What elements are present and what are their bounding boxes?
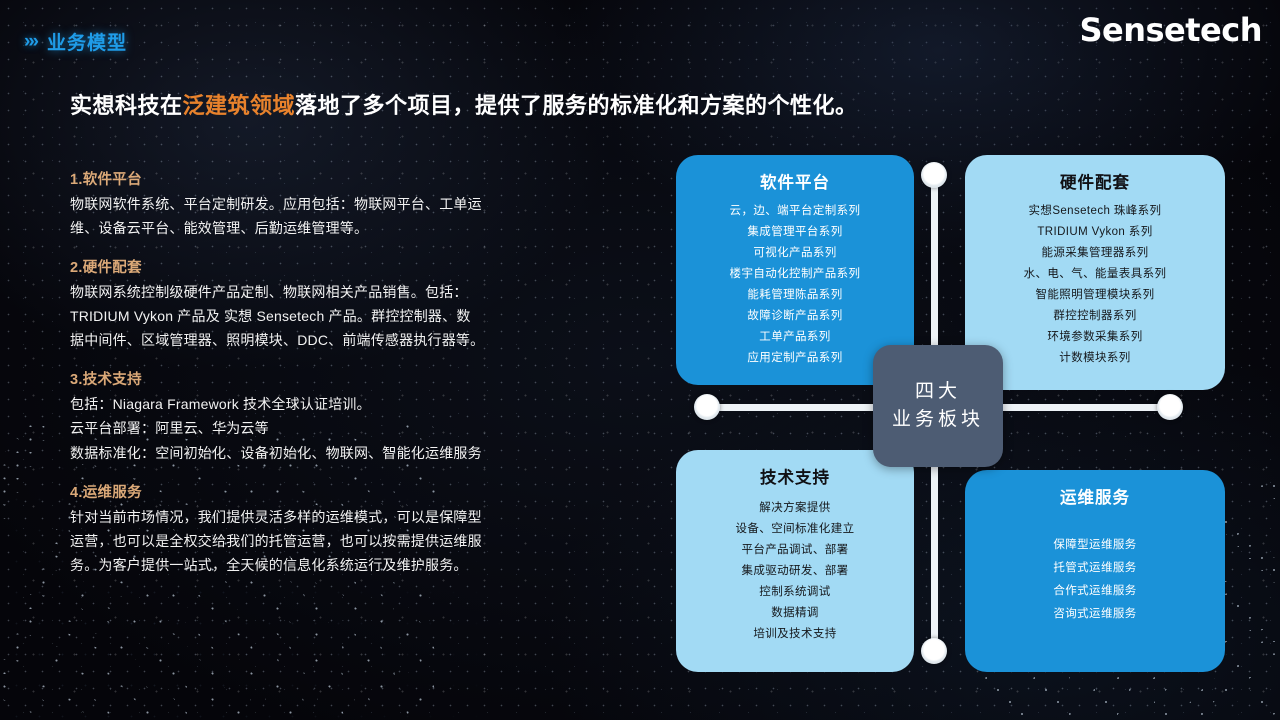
section-body: 针对当前市场情况，我们提供灵活多样的运维模式，可以是保障型 运营，也可以是全权交… [70, 505, 630, 577]
list-item: 设备、空间标准化建立 [676, 519, 914, 540]
list-item: 数据精调 [676, 603, 914, 624]
body-line: 物联网软件系统、平台定制研发。应用包括：物联网平台、工单运 [70, 192, 630, 216]
brand-logo: Sensetech [1079, 11, 1262, 49]
card-title: 硬件配套 [965, 169, 1225, 193]
list-item: 集成驱动研发、部署 [676, 561, 914, 582]
headline-before: 实想科技在 [70, 93, 183, 118]
card-operations-service[interactable]: 运维服务 保障型运维服务 托管式运维服务 合作式运维服务 咨询式运维服务 [965, 470, 1225, 672]
hub-line-1: 四大 [915, 378, 961, 406]
hub-line-2: 业务板块 [892, 406, 984, 434]
connector-node-right [1157, 394, 1183, 420]
card-item-list: 云，边、端平台定制系列 集成管理平台系列 可视化产品系列 楼宇自动化控制产品系列… [676, 201, 914, 369]
list-item: 能源采集管理器系列 [965, 243, 1225, 264]
body-line: 运营，也可以是全权交给我们的托管运营，也可以按需提供运维服 [70, 529, 630, 553]
list-item: 楼宇自动化控制产品系列 [676, 264, 914, 285]
connector-node-left [694, 394, 720, 420]
body-line: 针对当前市场情况，我们提供灵活多样的运维模式，可以是保障型 [70, 505, 630, 529]
body-line: 维、设备云平台、能效管理、后勤运维管理等。 [70, 216, 630, 240]
body-line: 据中间件、区域管理器、照明模块、DDC、前端传感器执行器等。 [70, 328, 630, 352]
section-body: 包括：Niagara Framework 技术全球认证培训。 云平台部署：阿里云… [70, 392, 630, 464]
list-item: 智能照明管理模块系列 [965, 285, 1225, 306]
list-item: 计数模块系列 [965, 348, 1225, 369]
triple-chevron-right-icon: ››› [24, 31, 37, 53]
list-item: 平台产品调试、部署 [676, 540, 914, 561]
slide-root: ››› 业务模型 Sensetech 实想科技在泛建筑领域落地了多个项目，提供了… [0, 0, 1280, 720]
breadcrumb: ››› 业务模型 [24, 28, 127, 55]
connector-node-bottom [921, 638, 947, 664]
body-line: 物联网系统控制级硬件产品定制、物联网相关产品销售。包括： [70, 280, 630, 304]
connector-node-top [921, 162, 947, 188]
list-item: 保障型运维服务 [965, 534, 1225, 557]
list-item: 环境参数采集系列 [965, 327, 1225, 348]
list-item: 咨询式运维服务 [965, 603, 1225, 626]
card-technical-support[interactable]: 技术支持 解决方案提供 设备、空间标准化建立 平台产品调试、部署 集成驱动研发、… [676, 450, 914, 672]
section-body: 物联网软件系统、平台定制研发。应用包括：物联网平台、工单运 维、设备云平台、能效… [70, 192, 630, 240]
section-hardware-kit: 2.硬件配套 物联网系统控制级硬件产品定制、物联网相关产品销售。包括： TRID… [70, 256, 630, 352]
section-heading: 2.硬件配套 [70, 256, 630, 277]
card-item-list: 实想Sensetech 珠峰系列 TRIDIUM Vykon 系列 能源采集管理… [965, 201, 1225, 369]
section-software-platform: 1.软件平台 物联网软件系统、平台定制研发。应用包括：物联网平台、工单运 维、设… [70, 168, 630, 240]
section-heading: 1.软件平台 [70, 168, 630, 189]
body-line: TRIDIUM Vykon 产品及 实想 Sensetech 产品。群控控制器、… [70, 304, 630, 328]
card-hardware-kit[interactable]: 硬件配套 实想Sensetech 珠峰系列 TRIDIUM Vykon 系列 能… [965, 155, 1225, 390]
list-item: 群控控制器系列 [965, 306, 1225, 327]
card-title: 软件平台 [676, 169, 914, 193]
list-item: 培训及技术支持 [676, 624, 914, 645]
section-heading: 4.运维服务 [70, 481, 630, 502]
body-line: 务。为客户提供一站式，全天候的信息化系统运行及维护服务。 [70, 553, 630, 577]
list-item: 工单产品系列 [676, 327, 914, 348]
section-label: 业务模型 [47, 28, 127, 55]
list-item: 集成管理平台系列 [676, 222, 914, 243]
left-content-column: 1.软件平台 物联网软件系统、平台定制研发。应用包括：物联网平台、工单运 维、设… [70, 168, 630, 593]
section-heading: 3.技术支持 [70, 368, 630, 389]
list-item: 解决方案提供 [676, 498, 914, 519]
list-item: 故障诊断产品系列 [676, 306, 914, 327]
list-item: 合作式运维服务 [965, 580, 1225, 603]
list-item: 水、电、气、能量表具系列 [965, 264, 1225, 285]
card-title: 运维服务 [965, 484, 1225, 508]
card-item-list: 解决方案提供 设备、空间标准化建立 平台产品调试、部署 集成驱动研发、部署 控制… [676, 498, 914, 645]
section-operations-service: 4.运维服务 针对当前市场情况，我们提供灵活多样的运维模式，可以是保障型 运营，… [70, 481, 630, 577]
section-body: 物联网系统控制级硬件产品定制、物联网相关产品销售。包括： TRIDIUM Vyk… [70, 280, 630, 352]
page-title: 实想科技在泛建筑领域落地了多个项目，提供了服务的标准化和方案的个性化。 [70, 88, 858, 120]
body-line: 云平台部署：阿里云、华为云等 [70, 416, 630, 440]
diagram-center-hub[interactable]: 四大 业务板块 [873, 345, 1003, 467]
list-item: 控制系统调试 [676, 582, 914, 603]
list-item: 托管式运维服务 [965, 557, 1225, 580]
body-line: 数据标准化：空间初始化、设备初始化、物联网、智能化运维服务 [70, 441, 630, 465]
body-line: 包括：Niagara Framework 技术全球认证培训。 [70, 392, 630, 416]
card-item-list: 保障型运维服务 托管式运维服务 合作式运维服务 咨询式运维服务 [965, 534, 1225, 626]
list-item: 能耗管理陈品系列 [676, 285, 914, 306]
list-item: 云，边、端平台定制系列 [676, 201, 914, 222]
list-item: 可视化产品系列 [676, 243, 914, 264]
card-title: 技术支持 [676, 464, 914, 488]
section-technical-support: 3.技术支持 包括：Niagara Framework 技术全球认证培训。 云平… [70, 368, 630, 464]
list-item: TRIDIUM Vykon 系列 [965, 222, 1225, 243]
four-pillars-diagram: 软件平台 云，边、端平台定制系列 集成管理平台系列 可视化产品系列 楼宇自动化控… [660, 140, 1240, 685]
list-item: 实想Sensetech 珠峰系列 [965, 201, 1225, 222]
headline-highlight: 泛建筑领域 [183, 93, 296, 118]
headline-after: 落地了多个项目，提供了服务的标准化和方案的个性化。 [295, 93, 858, 118]
